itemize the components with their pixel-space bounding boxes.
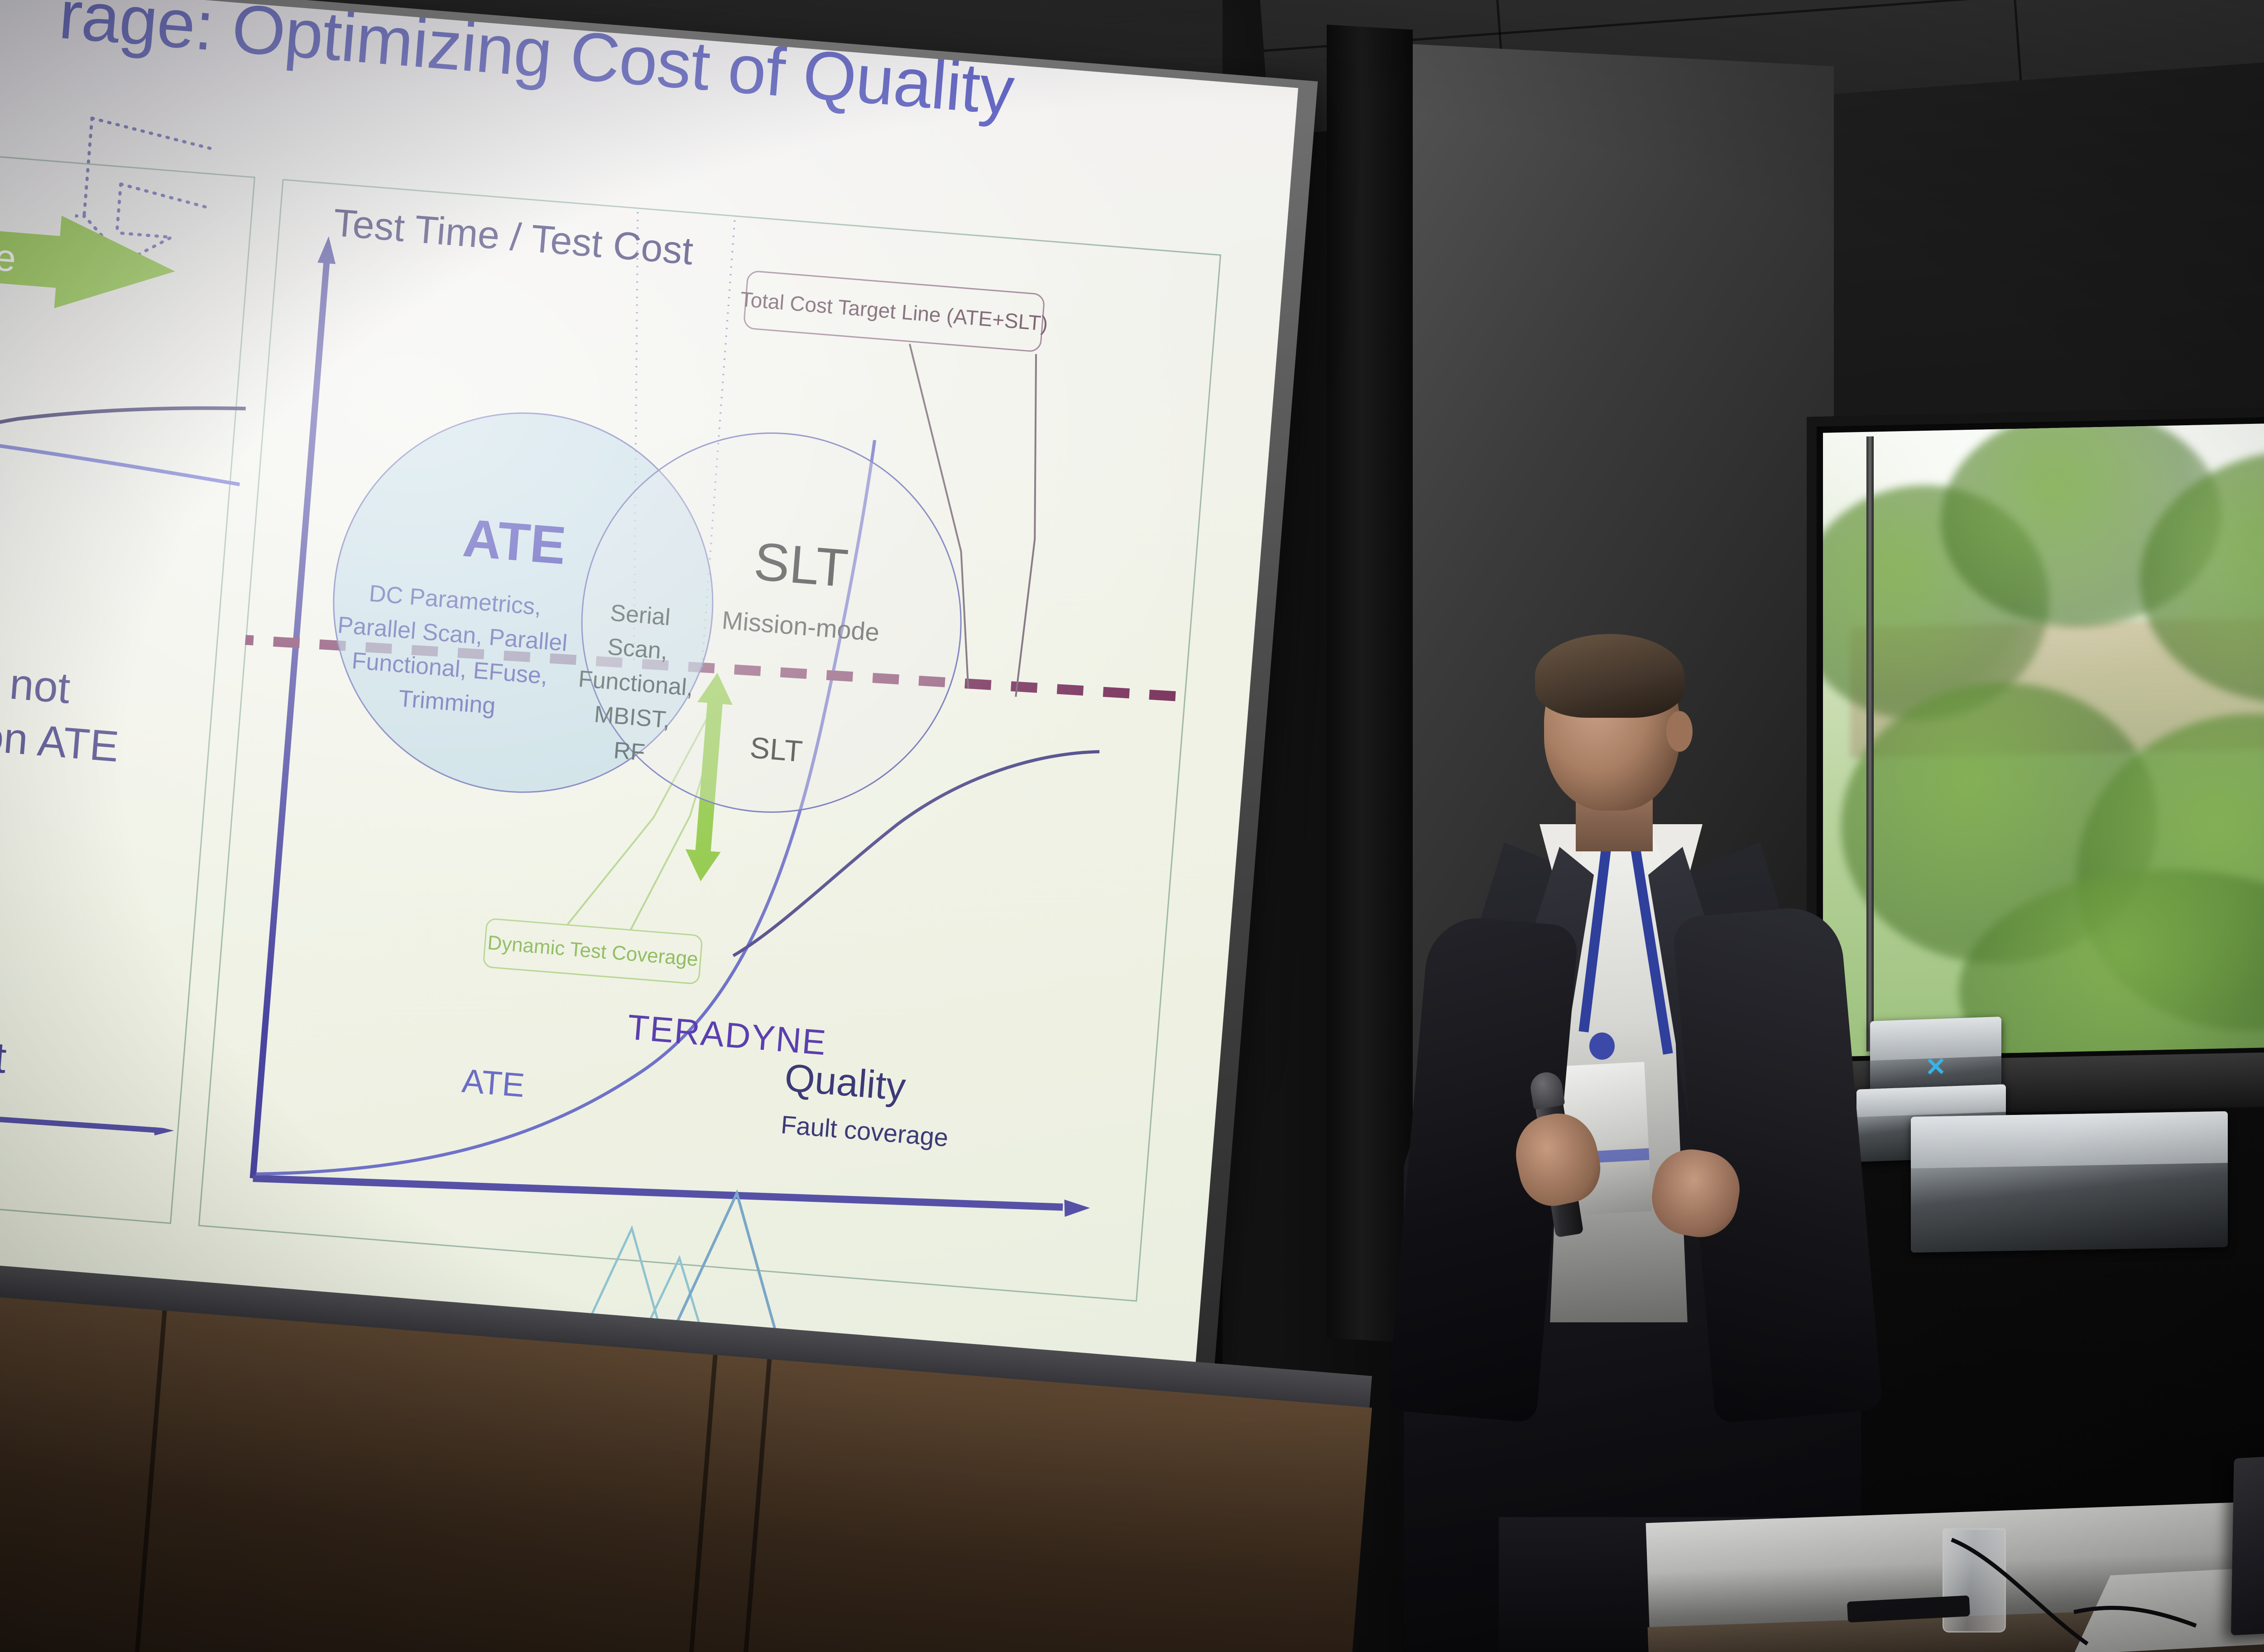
ear bbox=[1666, 711, 1693, 752]
cost-of-quality-chart: Test Time / Test Cost ATE SLT DC Paramet… bbox=[198, 179, 1221, 1301]
cables bbox=[1924, 1490, 2241, 1652]
equipment-case bbox=[1911, 1111, 2228, 1253]
left-panel-curves bbox=[0, 296, 251, 629]
lanyard-clip bbox=[1589, 1032, 1615, 1060]
venn-intersection-items: Serial Scan, Functional, MBIST, RF bbox=[571, 594, 698, 773]
presentation-slide: rage: Optimizing Cost of Quality namic T… bbox=[0, 0, 1298, 1365]
photo-scene: ✕ rage: Optimizing Cost of Quality namic… bbox=[0, 0, 2264, 1652]
curve-label-ate: ATE bbox=[460, 1061, 526, 1105]
venn-ate-items: DC Parametrics, Parallel Scan, Parallel … bbox=[319, 573, 583, 730]
presenter bbox=[1395, 629, 1893, 1652]
projection-screen: rage: Optimizing Cost of Quality namic T… bbox=[0, 0, 1331, 1437]
hair bbox=[1535, 634, 1684, 718]
case-logo-icon: ✕ bbox=[1925, 1054, 1947, 1080]
curve-label-slt: SLT bbox=[748, 730, 804, 768]
